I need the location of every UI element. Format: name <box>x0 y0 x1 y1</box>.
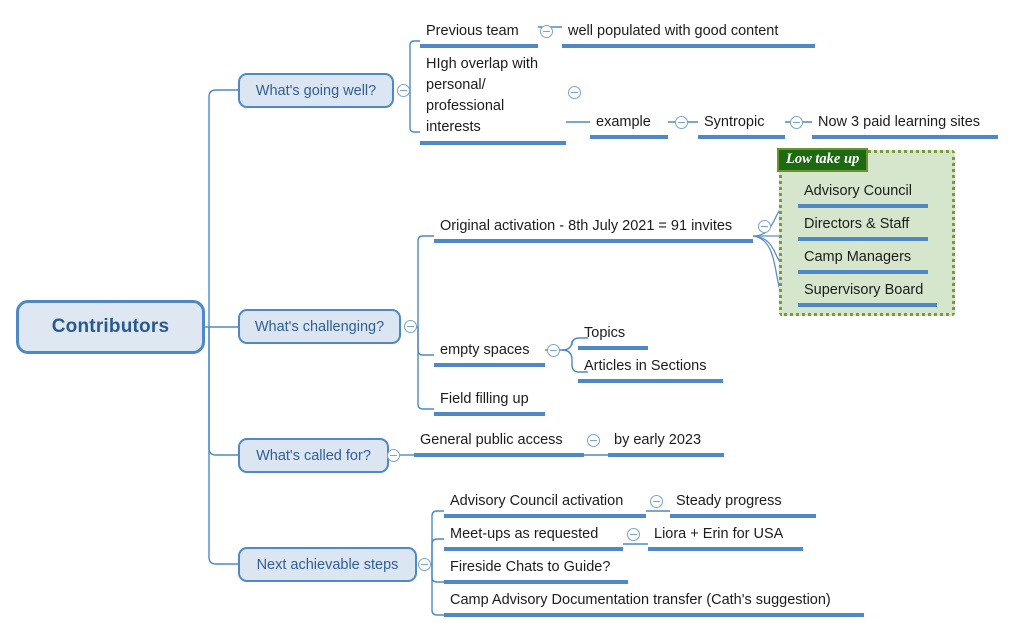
leaf-fireside-chats-to-guide[interactable]: Fireside Chats to Guide? <box>444 557 628 584</box>
leaf-previous-team[interactable]: Previous team <box>420 21 538 48</box>
leaf-label: Meet-ups as requested <box>450 526 598 542</box>
leaf-camp-advisory-documentation-transfer[interactable]: Camp Advisory Documentation transfer (Ca… <box>444 590 864 617</box>
leaf-label: Supervisory Board <box>804 282 923 298</box>
collapse-toggle-next-achievable-steps[interactable] <box>418 558 431 571</box>
leaf-label: Previous team <box>426 23 519 39</box>
leaf-articles-in-sections[interactable]: Articles in Sections <box>578 356 723 383</box>
collapse-toggle-meet-ups-as-requested[interactable] <box>627 528 640 541</box>
leaf-label: Articles in Sections <box>584 358 707 374</box>
leaf-supervisory-board[interactable]: Supervisory Board <box>798 280 937 307</box>
leaf-label: Now 3 paid learning sites <box>818 114 980 130</box>
leaf-label: HIgh overlap with personal/ professional… <box>426 56 538 135</box>
leaf-label: Camp Managers <box>804 249 911 265</box>
collapse-toggle-whats-called-for[interactable] <box>387 449 400 462</box>
branch-label: What's called for? <box>256 448 371 464</box>
leaf-topics[interactable]: Topics <box>578 323 648 350</box>
collapse-toggle-advisory-council-activation[interactable] <box>650 495 663 508</box>
root-node[interactable]: Contributors <box>16 300 205 354</box>
boundary-label: Low take up <box>777 148 868 172</box>
collapse-toggle-whats-challenging[interactable] <box>404 320 417 333</box>
leaf-label: empty spaces <box>440 342 529 358</box>
collapse-toggle-previous-team[interactable] <box>540 25 553 38</box>
leaf-label: well populated with good content <box>568 23 778 39</box>
leaf-camp-managers[interactable]: Camp Managers <box>798 247 928 274</box>
branch-node-next-achievable-steps[interactable]: Next achievable steps <box>238 547 417 582</box>
leaf-label: example <box>596 114 651 130</box>
leaf-label: by early 2023 <box>614 432 701 448</box>
leaf-general-public-access[interactable]: General public access <box>414 430 584 457</box>
branch-node-whats-challenging[interactable]: What's challenging? <box>238 309 401 344</box>
leaf-label: Field filling up <box>440 391 529 407</box>
leaf-original-activation[interactable]: Original activation - 8th July 2021 = 91… <box>434 216 753 243</box>
collapse-toggle-general-public-access[interactable] <box>587 434 600 447</box>
branch-node-whats-going-well[interactable]: What's going well? <box>238 73 394 108</box>
root-node-label: Contributors <box>52 316 169 338</box>
leaf-now-3-paid-learning-sites[interactable]: Now 3 paid learning sites <box>812 112 998 139</box>
leaf-empty-spaces[interactable]: empty spaces <box>434 340 545 367</box>
leaf-label: Advisory Council <box>804 183 912 199</box>
leaf-label: Camp Advisory Documentation transfer (Ca… <box>450 592 831 608</box>
mindmap-canvas: Low take up Contributors What's going we… <box>0 0 1027 631</box>
leaf-meet-ups-as-requested[interactable]: Meet-ups as requested <box>444 524 623 551</box>
leaf-label: Syntropic <box>704 114 764 130</box>
collapse-toggle-original-activation[interactable] <box>758 220 771 233</box>
leaf-field-filling-up[interactable]: Field filling up <box>434 389 545 416</box>
collapse-toggle-example[interactable] <box>675 116 688 129</box>
collapse-toggle-high-overlap-interests[interactable] <box>568 86 581 99</box>
leaf-advisory-council[interactable]: Advisory Council <box>798 181 928 208</box>
collapse-toggle-empty-spaces[interactable] <box>547 344 560 357</box>
leaf-label: Original activation - 8th July 2021 = 91… <box>440 218 732 234</box>
collapse-toggle-syntropic[interactable] <box>790 116 803 129</box>
leaf-example[interactable]: example <box>590 112 668 139</box>
branch-label: What's challenging? <box>255 319 384 335</box>
leaf-label: Directors & Staff <box>804 216 909 232</box>
leaf-label: Topics <box>584 325 625 341</box>
leaf-label: Advisory Council activation <box>450 493 623 509</box>
leaf-directors-and-staff[interactable]: Directors & Staff <box>798 214 928 241</box>
leaf-high-overlap-interests[interactable]: HIgh overlap with personal/ professional… <box>420 54 566 145</box>
leaf-liora-erin-for-usa[interactable]: Liora + Erin for USA <box>648 524 803 551</box>
leaf-label: Steady progress <box>676 493 782 509</box>
leaf-by-early-2023[interactable]: by early 2023 <box>608 430 724 457</box>
leaf-steady-progress[interactable]: Steady progress <box>670 491 816 518</box>
branch-node-whats-called-for[interactable]: What's called for? <box>238 438 389 473</box>
leaf-well-populated-with-good-content[interactable]: well populated with good content <box>562 21 815 48</box>
collapse-toggle-whats-going-well[interactable] <box>397 84 410 97</box>
leaf-label: General public access <box>420 432 563 448</box>
leaf-label: Fireside Chats to Guide? <box>450 559 610 575</box>
leaf-syntropic[interactable]: Syntropic <box>698 112 785 139</box>
leaf-advisory-council-activation[interactable]: Advisory Council activation <box>444 491 646 518</box>
branch-label: What's going well? <box>256 83 376 99</box>
branch-label: Next achievable steps <box>257 557 399 573</box>
leaf-label: Liora + Erin for USA <box>654 526 783 542</box>
